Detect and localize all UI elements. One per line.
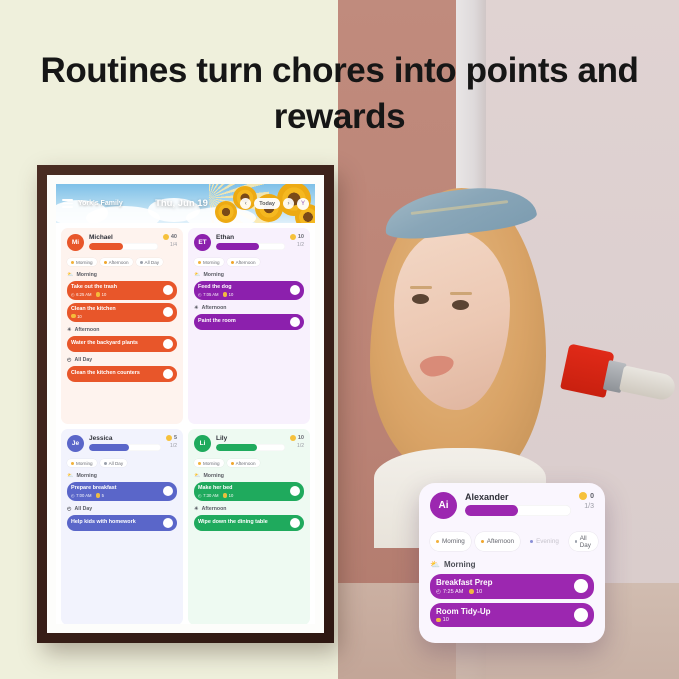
- member-card: Mi Michael 40 1/4 Morning Afternoon: [61, 228, 183, 424]
- task-complete-toggle[interactable]: [163, 486, 173, 496]
- task-title: Help kids with homework: [71, 519, 136, 526]
- points-value: 0: [590, 493, 594, 500]
- section-header: ⛅ Morning: [194, 473, 304, 479]
- time-filter-chip[interactable]: Morning: [194, 459, 224, 467]
- task-points: 10: [96, 292, 107, 297]
- avatar: Ai: [430, 492, 457, 519]
- avatar: Li: [194, 435, 211, 452]
- progress-fill: [216, 243, 259, 250]
- task-meta: ◴7:00 AM5: [71, 493, 117, 498]
- floating-member-card: Ai Alexander 0 1/3 Morning Afternoon: [419, 483, 605, 643]
- star-icon: [436, 618, 441, 623]
- section-header: ☀ Afternoon: [67, 327, 177, 333]
- clock-icon: ◴: [198, 493, 202, 498]
- section-label: Morning: [444, 560, 476, 569]
- task-time: ◴7:00 AM: [71, 493, 92, 498]
- current-date-label: Thu, Jun 19: [128, 198, 235, 209]
- task-points: 10: [469, 589, 482, 595]
- member-name: Alexander: [465, 492, 571, 502]
- star-icon: [163, 234, 169, 240]
- chip-label: All Day: [145, 260, 160, 265]
- time-filter-chip[interactable]: All Day: [569, 532, 598, 551]
- task-meta: ◴7:25 AM10: [436, 589, 492, 595]
- points-value: 10: [298, 234, 304, 240]
- next-day-button[interactable]: ›: [283, 198, 294, 209]
- section-icon: ⛅: [67, 473, 73, 479]
- chip-label: Morning: [76, 461, 93, 466]
- task-complete-toggle[interactable]: [290, 486, 300, 496]
- task-time: ◴6:25 AM: [71, 292, 92, 297]
- status-dot-icon: [575, 540, 577, 543]
- points-badge: 10: [290, 234, 304, 240]
- completion-fraction: 1/2: [290, 443, 304, 449]
- points-value: 40: [171, 234, 177, 240]
- completion-fraction: 1/2: [290, 242, 304, 248]
- member-card-grid: Mi Michael 40 1/4 Morning Afternoon: [56, 223, 315, 624]
- task-complete-toggle[interactable]: [163, 518, 173, 528]
- section-header: ☀ Afternoon: [194, 506, 304, 512]
- task-item[interactable]: Room Tidy-Up10: [430, 603, 594, 628]
- task-complete-toggle[interactable]: [163, 285, 173, 295]
- app-screen: York's Family Thu, Jun 19 ‹ Today › Y Mi…: [56, 184, 315, 624]
- clock-icon: ◴: [71, 493, 75, 498]
- progress-bar: [216, 444, 285, 451]
- date-navigation: ‹ Today › Y: [240, 198, 309, 210]
- member-name: Jessica: [89, 435, 161, 442]
- member-card: Li Lily 10 1/2 Morning Afternoon: [188, 429, 310, 624]
- completion-fraction: 1/2: [166, 443, 177, 449]
- task-item[interactable]: Make her bed◴7:30 AM10: [194, 482, 304, 501]
- section-header: ⛅ Morning: [67, 473, 177, 479]
- task-item[interactable]: Help kids with homework: [67, 515, 177, 531]
- status-dot-icon: [71, 261, 74, 264]
- task-complete-toggle[interactable]: [163, 369, 173, 379]
- completion-fraction: 1/4: [163, 242, 177, 248]
- time-filter-chip[interactable]: Afternoon: [227, 258, 260, 266]
- task-title: Clean the kitchen: [71, 306, 116, 313]
- time-filter-chips: Morning Afternoon: [194, 459, 304, 467]
- status-dot-icon: [198, 462, 201, 465]
- task-item[interactable]: Take out the trash◴6:25 AM10: [67, 281, 177, 300]
- member-name: Ethan: [216, 234, 285, 241]
- section-label: All Day: [75, 506, 93, 512]
- chip-label: Morning: [203, 260, 220, 265]
- points-badge: 5: [166, 435, 177, 441]
- status-dot-icon: [231, 462, 234, 465]
- task-meta: 10: [436, 617, 491, 623]
- time-filter-chip[interactable]: Afternoon: [475, 532, 520, 551]
- chip-label: All Day: [580, 535, 592, 549]
- task-complete-toggle[interactable]: [163, 339, 173, 349]
- section-label: Afternoon: [202, 305, 227, 311]
- status-dot-icon: [140, 261, 143, 264]
- app-header: York's Family Thu, Jun 19 ‹ Today › Y: [56, 184, 315, 223]
- task-title: Feed the dog: [198, 284, 233, 291]
- status-dot-icon: [71, 462, 74, 465]
- task-title: Clean the kitchen counters: [71, 370, 140, 377]
- time-filter-chip[interactable]: Morning: [67, 459, 97, 467]
- task-item[interactable]: Breakfast Prep◴7:25 AM10: [430, 574, 594, 599]
- avatar: Je: [67, 435, 84, 452]
- section-label: Morning: [203, 272, 223, 278]
- task-title: Make her bed: [198, 485, 233, 492]
- section-label: All Day: [75, 357, 93, 363]
- task-complete-toggle[interactable]: [290, 317, 300, 327]
- child-eye-left: [412, 294, 429, 304]
- status-dot-icon: [436, 540, 439, 543]
- section-header: ⛅ Morning: [430, 560, 594, 569]
- progress-fill: [89, 243, 123, 250]
- picture-frame: York's Family Thu, Jun 19 ‹ Today › Y Mi…: [37, 165, 334, 643]
- task-item[interactable]: Water the backyard plants: [67, 336, 177, 352]
- avatar: ET: [194, 234, 211, 251]
- section-label: Morning: [76, 473, 96, 479]
- time-filter-chip[interactable]: Evening: [524, 532, 565, 551]
- task-title: Take out the trash: [71, 284, 117, 291]
- section-icon: ☀: [194, 506, 199, 512]
- task-complete-toggle[interactable]: [574, 608, 588, 622]
- points-badge: 0: [579, 492, 594, 500]
- star-icon: [96, 292, 101, 297]
- section-header: ◴ All Day: [67, 357, 177, 363]
- task-item[interactable]: Wipe down the dining table: [194, 515, 304, 531]
- points-badge: 40: [163, 234, 177, 240]
- task-title: Water the backyard plants: [71, 340, 138, 347]
- task-item[interactable]: Clean the kitchen counters: [67, 366, 177, 382]
- task-title: Wipe down the dining table: [198, 519, 268, 526]
- task-points: 10: [436, 617, 449, 623]
- task-points: 5: [96, 493, 104, 498]
- section-icon: ⛅: [194, 272, 200, 278]
- status-dot-icon: [231, 261, 234, 264]
- task-complete-toggle[interactable]: [163, 307, 173, 317]
- task-complete-toggle[interactable]: [290, 285, 300, 295]
- avatar: Mi: [67, 234, 84, 251]
- progress-bar: [216, 243, 285, 250]
- family-name-label: York's Family: [78, 200, 123, 207]
- task-meta: ◴6:25 AM10: [71, 292, 117, 297]
- scene: Routines turn chores into points and rew…: [0, 0, 679, 679]
- time-filter-chip[interactable]: Morning: [194, 258, 224, 266]
- task-complete-toggle[interactable]: [574, 579, 588, 593]
- clock-icon: ◴: [436, 589, 441, 595]
- time-filter-chip[interactable]: Morning: [67, 258, 97, 266]
- status-dot-icon: [104, 261, 107, 264]
- task-title: Paint the room: [198, 318, 236, 325]
- time-filter-chip[interactable]: Morning: [430, 532, 471, 551]
- progress-bar: [89, 243, 158, 250]
- time-filter-chip[interactable]: All Day: [100, 459, 128, 467]
- task-title: Breakfast Prep: [436, 578, 492, 587]
- task-item[interactable]: Prepare breakfast◴7:00 AM5: [67, 482, 177, 501]
- chip-label: Afternoon: [109, 260, 129, 265]
- section-header: ⛅ Morning: [194, 272, 304, 278]
- member-name: Michael: [89, 234, 158, 241]
- time-filter-chips: Morning Afternoon: [194, 258, 304, 266]
- chip-label: All Day: [109, 461, 124, 466]
- section-icon: ◴: [67, 506, 72, 512]
- task-title: Room Tidy-Up: [436, 607, 491, 616]
- task-points: 10: [223, 292, 234, 297]
- section-header: ☀ Afternoon: [194, 305, 304, 311]
- clock-icon: ◴: [198, 292, 202, 297]
- star-icon: [71, 314, 76, 319]
- task-item[interactable]: Feed the dog◴7:05 AM10: [194, 281, 304, 300]
- status-dot-icon: [481, 540, 484, 543]
- chip-label: Morning: [442, 538, 465, 545]
- section-label: Morning: [203, 473, 223, 479]
- section-icon: ☀: [67, 327, 72, 333]
- time-filter-chip[interactable]: Afternoon: [100, 258, 133, 266]
- task-time: ◴7:30 AM: [198, 493, 219, 498]
- progress-bar: [465, 505, 571, 516]
- time-filter-chips: Morning Afternoon All Day: [67, 258, 177, 266]
- frame-mat: York's Family Thu, Jun 19 ‹ Today › Y Mi…: [47, 175, 324, 633]
- progress-fill: [216, 444, 257, 451]
- task-item[interactable]: Clean the kitchen10: [67, 303, 177, 322]
- sun-cloud-icon: ⛅: [430, 560, 440, 569]
- task-complete-toggle[interactable]: [290, 518, 300, 528]
- profile-avatar-button[interactable]: Y: [297, 198, 309, 210]
- today-button[interactable]: Today: [254, 198, 280, 209]
- section-header: ◴ All Day: [67, 506, 177, 512]
- child-eyebrow-left: [410, 286, 432, 289]
- brush-handle: [619, 365, 677, 402]
- phone-task-list: Breakfast Prep◴7:25 AM10 Room Tidy-Up10: [430, 574, 594, 627]
- time-filter-chips: Morning All Day: [67, 459, 177, 467]
- completion-fraction: 1/3: [579, 503, 594, 510]
- child-eye-right: [452, 300, 469, 310]
- points-value: 10: [298, 435, 304, 441]
- star-icon: [290, 234, 296, 240]
- star-icon: [223, 292, 228, 297]
- task-meta: 10: [71, 314, 116, 319]
- time-filter-chip[interactable]: All Day: [136, 258, 164, 266]
- task-time: ◴7:25 AM: [436, 589, 463, 595]
- child-eyebrow-right: [450, 292, 472, 295]
- chip-label: Morning: [203, 461, 220, 466]
- star-icon: [469, 589, 474, 594]
- member-name: Lily: [216, 435, 285, 442]
- time-filter-chips: Morning Afternoon Evening All Day: [430, 532, 594, 551]
- task-time: ◴7:05 AM: [198, 292, 219, 297]
- status-dot-icon: [530, 540, 533, 543]
- section-icon: ⛅: [194, 473, 200, 479]
- star-icon: [290, 435, 296, 441]
- star-icon: [166, 435, 172, 441]
- member-card: Je Jessica 5 1/2 Morning All Day: [61, 429, 183, 624]
- chip-label: Evening: [536, 538, 559, 545]
- section-label: Morning: [76, 272, 96, 278]
- task-title: Prepare breakfast: [71, 485, 117, 492]
- task-points: 10: [71, 314, 82, 319]
- section-label: Afternoon: [75, 327, 100, 333]
- progress-fill: [465, 505, 518, 516]
- task-points: 10: [223, 493, 234, 498]
- star-icon: [223, 493, 228, 498]
- clock-icon: ◴: [71, 292, 75, 297]
- chip-label: Morning: [76, 260, 93, 265]
- section-icon: ☀: [194, 305, 199, 311]
- chip-label: Afternoon: [487, 538, 514, 545]
- star-icon: [579, 492, 587, 500]
- task-item[interactable]: Paint the room: [194, 314, 304, 330]
- chip-label: Afternoon: [236, 461, 256, 466]
- progress-fill: [89, 444, 129, 451]
- time-filter-chip[interactable]: Afternoon: [227, 459, 260, 467]
- status-dot-icon: [198, 261, 201, 264]
- section-icon: ⛅: [67, 272, 73, 278]
- task-meta: ◴7:05 AM10: [198, 292, 233, 297]
- progress-bar: [89, 444, 161, 451]
- page-title: Routines turn chores into points and rew…: [0, 48, 679, 140]
- menu-icon[interactable]: [62, 199, 73, 208]
- points-value: 5: [174, 435, 177, 441]
- star-icon: [96, 493, 101, 498]
- section-header: ⛅ Morning: [67, 272, 177, 278]
- chip-label: Afternoon: [236, 260, 256, 265]
- section-label: Afternoon: [202, 506, 227, 512]
- member-card: ET Ethan 10 1/2 Morning Afternoon: [188, 228, 310, 424]
- section-icon: ◴: [67, 357, 72, 363]
- previous-day-button[interactable]: ‹: [240, 198, 251, 209]
- task-meta: ◴7:30 AM10: [198, 493, 233, 498]
- points-badge: 10: [290, 435, 304, 441]
- status-dot-icon: [104, 462, 107, 465]
